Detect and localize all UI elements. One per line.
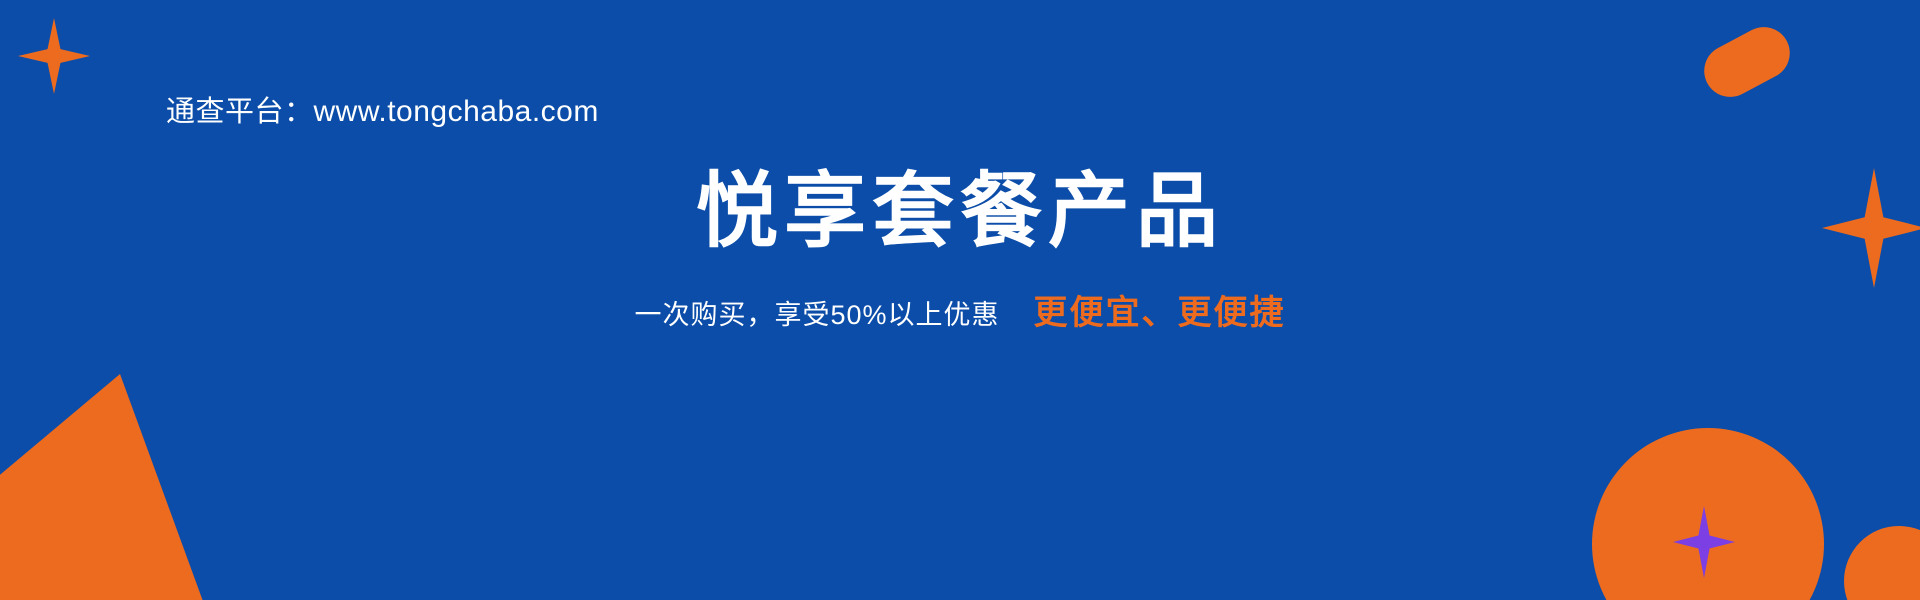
subtitle-plain: 一次购买，享受50%以上优惠 [634, 300, 999, 330]
promo-banner: 通查平台：www.tongchaba.com 悦享套餐产品 一次购买，享受50%… [0, 0, 1920, 600]
page-title: 悦享套餐产品 [0, 168, 1920, 257]
site-url: www.tongchaba.com [314, 95, 599, 128]
site-label: 通查平台： [166, 96, 314, 128]
subtitle: 一次购买，享受50%以上优惠更便宜、更便捷 [0, 293, 1920, 334]
subtitle-accent: 更便宜、更便捷 [1034, 294, 1286, 332]
site-line: 通查平台：www.tongchaba.com [166, 88, 599, 130]
banner-content: 通查平台：www.tongchaba.com 悦享套餐产品 一次购买，享受50%… [0, 0, 1920, 600]
